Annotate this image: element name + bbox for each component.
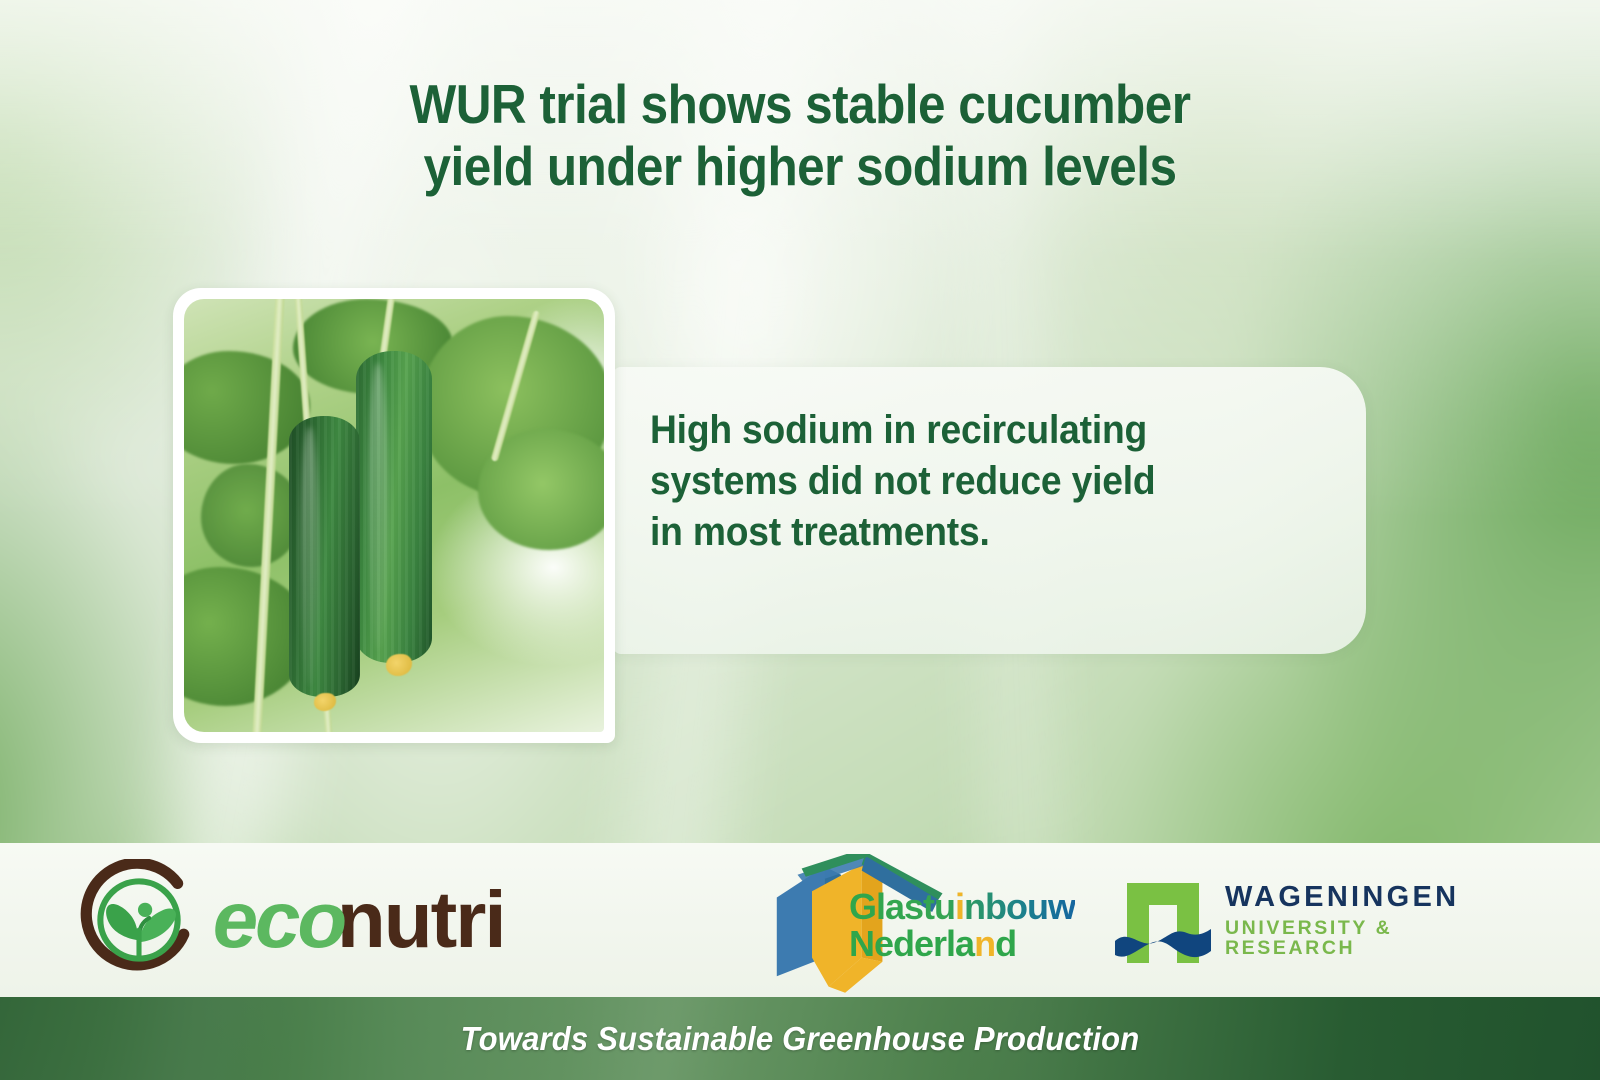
message-text: High sodium in recirculating systems did… <box>650 405 1245 559</box>
cucumber-photo <box>184 299 604 732</box>
leaf-shape <box>201 464 302 568</box>
glastuinbouw-line-1: Glastuinbouw <box>849 888 1075 925</box>
glastuinbouw-text-b: nbouw <box>964 886 1075 927</box>
logo-econutri[interactable]: econutri <box>78 855 505 985</box>
page-title: WUR trial shows stable cucumber yield un… <box>80 74 1520 197</box>
cucumber-texture <box>289 416 360 697</box>
wageningen-wordmark: WAGENINGEN UNIVERSITY & RESEARCH <box>1225 883 1493 958</box>
partner-logo-band: econutri Glastuinbou <box>0 843 1600 997</box>
nederland-text-a: Nederla <box>849 923 974 964</box>
cucumber-back <box>289 416 360 697</box>
cucumber-blossom <box>386 654 412 676</box>
logo-glastuinbouw-nederland[interactable]: Glastuinbouw Nederland <box>755 848 1085 993</box>
glastuinbouw-line-2: Nederland <box>849 925 1075 962</box>
message-line-1: High sodium in recirculating <box>650 405 1245 456</box>
cucumber-texture <box>356 351 432 663</box>
wageningen-line-2: UNIVERSITY & RESEARCH <box>1225 919 1493 958</box>
econutri-wordmark: econutri <box>214 880 505 960</box>
nederland-text-b: d <box>995 923 1016 964</box>
logo-wageningen-university-research[interactable]: WAGENINGEN UNIVERSITY & RESEARCH <box>1113 857 1493 983</box>
tagline-text: Towards Sustainable Greenhouse Productio… <box>461 1020 1140 1058</box>
page-title-line-1: WUR trial shows stable cucumber <box>80 74 1520 136</box>
cucumber-front <box>356 351 432 663</box>
nederland-text-n: n <box>974 923 995 964</box>
sprout-in-circle-icon <box>78 859 200 981</box>
message-line-3: in most treatments. <box>650 507 1245 558</box>
tagline-bar: Towards Sustainable Greenhouse Productio… <box>0 997 1600 1080</box>
cucumber-photo-frame <box>173 288 615 743</box>
econutri-eco-text: eco <box>213 880 344 960</box>
page-title-line-2: yield under higher sodium levels <box>80 136 1520 198</box>
glastuinbouw-text-a: Glastu <box>849 886 955 927</box>
wur-arch-wave-icon <box>1113 871 1213 963</box>
wageningen-line-1: WAGENINGEN <box>1225 883 1493 912</box>
econutri-nutri-text: nutri <box>337 880 505 960</box>
glastuinbouw-text-i: i <box>955 886 964 927</box>
poster-canvas: WUR trial shows stable cucumber yield un… <box>0 0 1600 1080</box>
glastuinbouw-wordmark: Glastuinbouw Nederland <box>849 888 1075 963</box>
cucumber-blossom <box>314 693 336 711</box>
message-line-2: systems did not reduce yield <box>650 456 1245 507</box>
